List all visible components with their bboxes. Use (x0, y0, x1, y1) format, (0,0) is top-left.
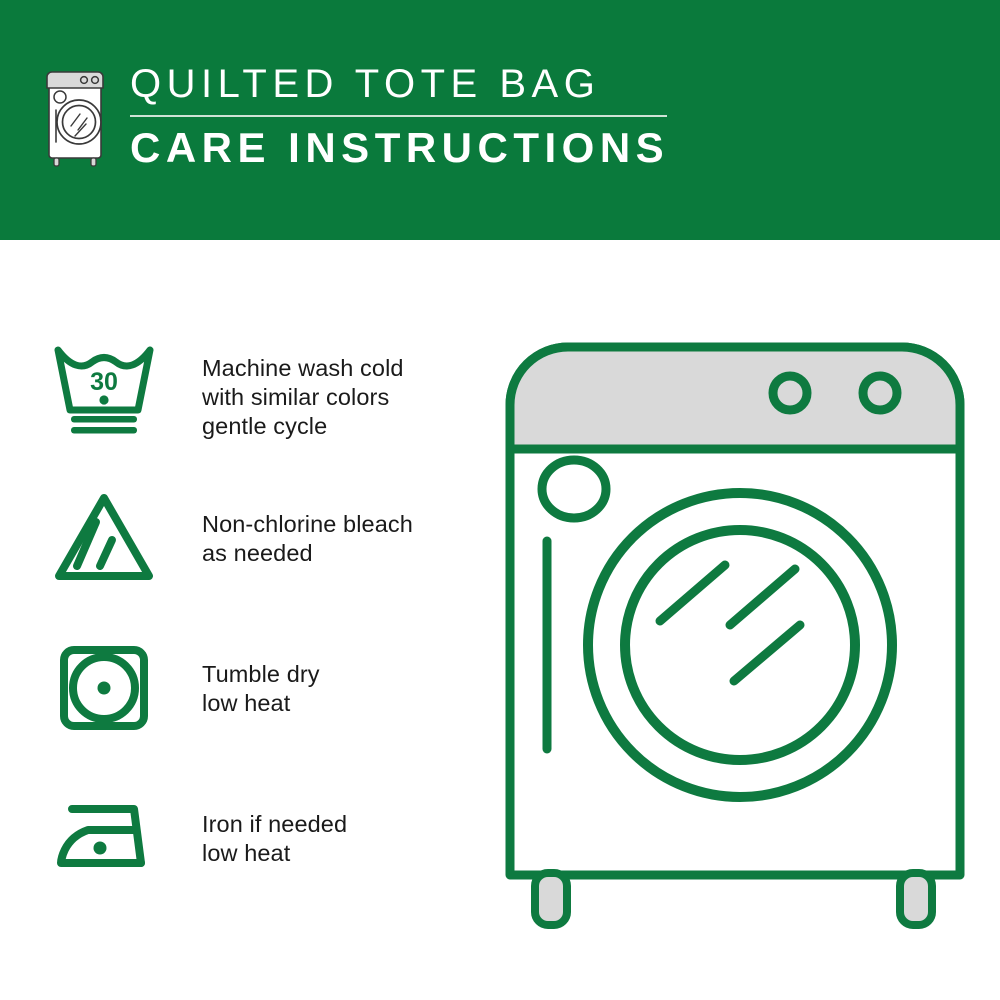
care-row-bleach: Non-chlorine bleach as needed (50, 488, 413, 588)
iron-low-heat-icon (50, 788, 158, 888)
care-line: Machine wash cold (202, 354, 404, 383)
tumble-dry-low-heat-icon (50, 638, 158, 738)
care-line: low heat (202, 839, 347, 868)
care-label-bleach: Non-chlorine bleach as needed (202, 488, 413, 568)
care-instructions-list: 30 Machine wash cold with similar colors… (0, 240, 470, 1000)
title-divider (130, 115, 667, 117)
care-row-iron: Iron if needed low heat (50, 788, 347, 888)
care-row-machine-wash: 30 Machine wash cold with similar colors… (50, 340, 404, 441)
care-line: Iron if needed (202, 810, 347, 839)
care-line: with similar colors (202, 383, 404, 412)
non-chlorine-bleach-triangle-icon (50, 488, 158, 588)
header-content: QUILTED TOTE BAG CARE INSTRUCTIONS (42, 64, 669, 169)
care-line: Tumble dry (202, 660, 320, 689)
wash-tub-30-gentle-icon: 30 (50, 340, 158, 440)
care-label-machine-wash: Machine wash cold with similar colors ge… (202, 340, 404, 441)
care-label-tumble-dry: Tumble dry low heat (202, 638, 320, 718)
care-line: low heat (202, 689, 320, 718)
front-load-washing-machine-illustration (490, 325, 980, 935)
care-line: Non-chlorine bleach (202, 510, 413, 539)
care-row-tumble-dry: Tumble dry low heat (50, 638, 320, 738)
care-label-iron: Iron if needed low heat (202, 788, 347, 868)
wash-temperature-value: 30 (90, 368, 118, 396)
header-band: QUILTED TOTE BAG CARE INSTRUCTIONS (0, 0, 1000, 240)
care-line: gentle cycle (202, 412, 404, 441)
leg-left (535, 873, 567, 925)
care-line: as needed (202, 539, 413, 568)
leg-right (900, 873, 932, 925)
header-title-block: QUILTED TOTE BAG CARE INSTRUCTIONS (130, 64, 669, 169)
page-title: QUILTED TOTE BAG (130, 64, 669, 114)
page-subtitle: CARE INSTRUCTIONS (130, 127, 669, 169)
washing-machine-icon (42, 64, 108, 168)
